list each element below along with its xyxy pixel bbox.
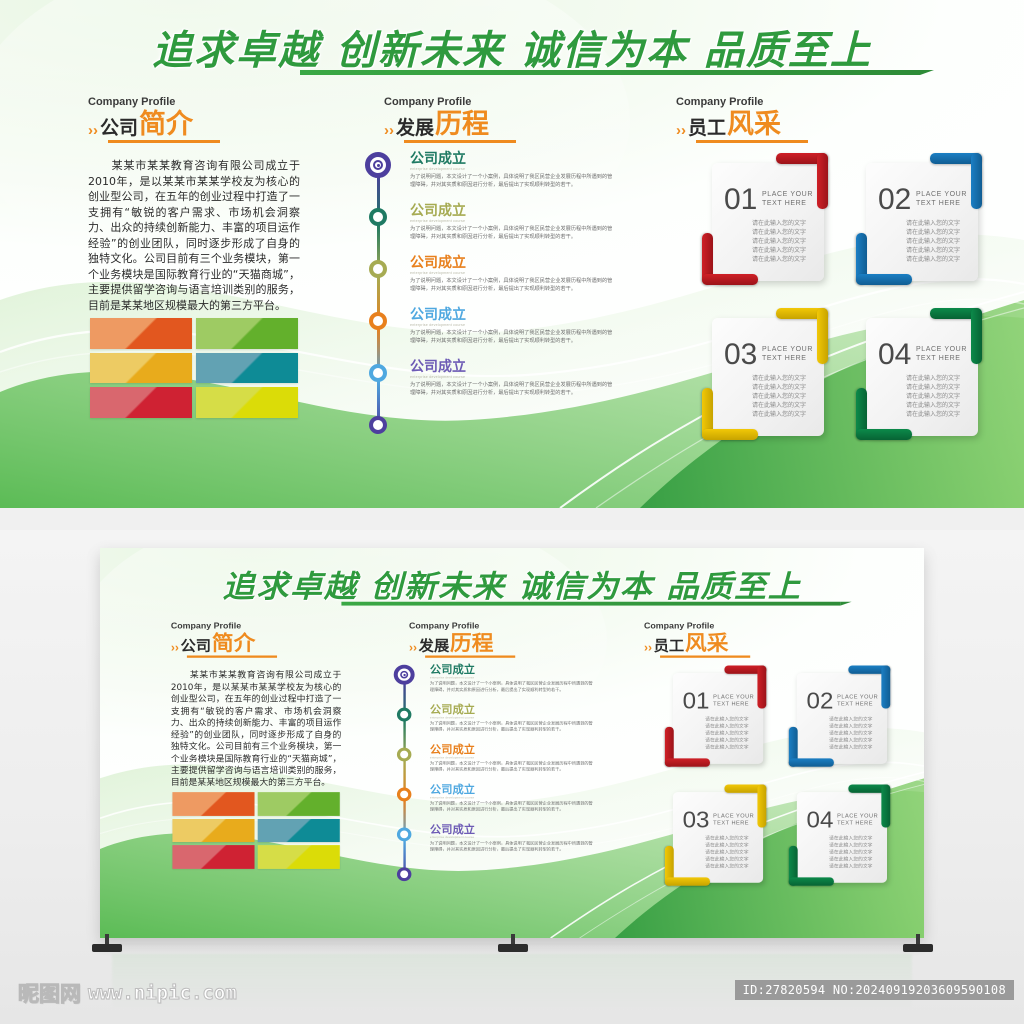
section-underline — [660, 655, 750, 657]
section-cn-dark: 发展 — [419, 639, 450, 654]
card-body-line: 请在此输入您的文字 — [752, 219, 806, 228]
timeline-node-4[interactable] — [369, 312, 387, 330]
color-swatch-teal — [258, 819, 340, 843]
color-swatch-gold — [90, 353, 192, 384]
employee-card-02[interactable]: 02PLACE YOURTEXT HERE请在此输入您的文字请在此输入您的文字请… — [797, 673, 887, 764]
card-body-line: 请在此输入您的文字 — [705, 744, 748, 751]
card-body-line: 请在此输入您的文字 — [906, 219, 960, 228]
timeline-item-body: 为了说明问题，本文设计了一个小案例，具体说明了我区民营企业发展历程中所遇到的管理… — [430, 761, 595, 773]
timeline-node-5[interactable] — [369, 364, 387, 382]
timeline-node-5[interactable] — [397, 827, 411, 841]
timeline-item-heading: 公司成立 — [410, 204, 615, 218]
card-placeholder-line1: PLACE YOUR — [916, 346, 967, 355]
section-cn-accent: 简介 — [139, 111, 193, 138]
timeline-item[interactable]: 公司成立enterprise development course为了说明问题，… — [410, 308, 615, 345]
color-swatch-orange — [172, 792, 254, 816]
color-swatch-grid — [90, 318, 298, 418]
watermark-url: www.nipic.com — [88, 982, 237, 1004]
section-eng-label: Company Profile — [384, 96, 516, 108]
card-body-lines: 请在此输入您的文字请在此输入您的文字请在此输入您的文字请在此输入您的文字请在此输… — [705, 835, 748, 870]
bracket-arm-vertical — [971, 308, 982, 364]
timeline-item-subtitle: enterprise development course — [410, 219, 615, 223]
bracket-arm-horizontal — [789, 758, 834, 766]
bracket-arm-horizontal — [702, 429, 758, 440]
color-swatch-orange — [90, 318, 192, 349]
bracket-arm-vertical — [757, 665, 766, 708]
page-title: 追求卓越 创新未来 诚信为本 品质至上 — [152, 28, 872, 74]
card-number: 04 — [878, 340, 911, 370]
card-placeholder-heading: PLACE YOURTEXT HERE — [837, 695, 878, 708]
timeline-item[interactable]: 公司成立enterprise development course为了说明问题，… — [430, 824, 595, 852]
color-swatch-grid — [172, 792, 339, 869]
section-underline — [696, 140, 808, 143]
card-body-line: 请在此输入您的文字 — [829, 856, 872, 863]
timeline-item-body: 为了说明问题，本文设计了一个小案例，具体说明了我区民营企业发展历程中所遇到的管理… — [410, 329, 615, 345]
card-body-line: 请在此输入您的文字 — [906, 237, 960, 246]
chevron-icon: ›› — [171, 642, 179, 654]
section-cn-dark: 公司 — [180, 639, 211, 654]
card-placeholder-line2: TEXT HERE — [916, 200, 967, 209]
employee-card-01[interactable]: 01PLACE YOURTEXT HERE请在此输入您的文字请在此输入您的文字请… — [673, 673, 763, 764]
timeline-node-6[interactable] — [369, 416, 387, 434]
timeline-item-subtitle: enterprise development course — [430, 836, 595, 839]
bracket-arm-horizontal — [665, 877, 710, 885]
card-placeholder-line1: PLACE YOUR — [762, 346, 813, 355]
timeline-item-subtitle: enterprise development course — [410, 167, 615, 171]
timeline-item[interactable]: 公司成立enterprise development course为了说明问题，… — [410, 256, 615, 293]
card-number: 02 — [878, 185, 911, 215]
section-eng-label: Company Profile — [171, 622, 277, 631]
timeline-node-3[interactable] — [397, 748, 411, 762]
card-placeholder-line2: TEXT HERE — [762, 355, 813, 364]
timeline-item-heading: 公司成立 — [410, 152, 615, 166]
card-placeholder-line1: PLACE YOUR — [837, 695, 878, 702]
page-title: 追求卓越 创新未来 诚信为本 品质至上 — [222, 569, 801, 604]
banner-artwork-small: 追求卓越 创新未来 诚信为本 品质至上 Company Profile ›› 公… — [100, 548, 924, 938]
banner-artwork-clone: 追求卓越 创新未来 诚信为本 品质至上 Company Profile ›› 公… — [100, 548, 924, 938]
card-body-line: 请在此输入您的文字 — [705, 730, 748, 737]
bracket-arm-vertical — [881, 784, 890, 827]
card-body-lines: 请在此输入您的文字请在此输入您的文字请在此输入您的文字请在此输入您的文字请在此输… — [752, 219, 806, 264]
card-placeholder-heading: PLACE YOURTEXT HERE — [713, 695, 754, 708]
card-body-lines: 请在此输入您的文字请在此输入您的文字请在此输入您的文字请在此输入您的文字请在此输… — [906, 374, 960, 419]
card-number: 03 — [683, 809, 710, 832]
company-profile-paragraph: 某某市某某教育咨询有限公司成立于2010年，是以某某市某某学校友为核心的创业型公… — [88, 158, 300, 313]
timeline-item-subtitle: enterprise development course — [410, 271, 615, 275]
card-body-line: 请在此输入您的文字 — [906, 255, 960, 264]
card-body-line: 请在此输入您的文字 — [906, 401, 960, 410]
timeline-node-3[interactable] — [369, 260, 387, 278]
card-placeholder-line2: TEXT HERE — [916, 355, 967, 364]
timeline-item[interactable]: 公司成立enterprise development course为了说明问题，… — [410, 152, 615, 189]
card-body-line: 请在此输入您的文字 — [705, 849, 748, 856]
watermark-brand: 昵图网 — [18, 978, 81, 1008]
timeline-node-center-dot — [403, 674, 405, 676]
section-underline — [187, 655, 277, 657]
timeline-item-heading: 公司成立 — [410, 256, 615, 270]
bracket-arm-horizontal — [665, 758, 710, 766]
chevron-icon: ›› — [409, 642, 417, 654]
card-placeholder-line1: PLACE YOUR — [762, 191, 813, 200]
card-body-line: 请在此输入您的文字 — [829, 737, 872, 744]
section-cn-dark: 员工 — [688, 119, 726, 138]
card-body-lines: 请在此输入您的文字请在此输入您的文字请在此输入您的文字请在此输入您的文字请在此输… — [829, 835, 872, 870]
card-body-line: 请在此输入您的文字 — [752, 410, 806, 419]
card-body-line: 请在此输入您的文字 — [752, 401, 806, 410]
timeline-item[interactable]: 公司成立enterprise development course为了说明问题，… — [430, 705, 595, 733]
section-header-profile: Company Profile ›› 公司 简介 — [171, 622, 277, 658]
chevron-icon: ›› — [644, 642, 652, 654]
employee-card-04[interactable]: 04PLACE YOURTEXT HERE请在此输入您的文字请在此输入您的文字请… — [797, 792, 887, 883]
section-header-staff: Company Profile ›› 员工 风采 — [644, 622, 750, 658]
section-eng-label: Company Profile — [88, 96, 220, 108]
development-timeline: 公司成立enterprise development course为了说明问题，… — [364, 158, 614, 398]
timeline-item-heading: 公司成立 — [430, 665, 595, 676]
section-underline — [108, 140, 220, 143]
card-body-line: 请在此输入您的文字 — [752, 237, 806, 246]
card-body-line: 请在此输入您的文字 — [705, 723, 748, 730]
employee-card-01[interactable]: 01PLACE YOURTEXT HERE请在此输入您的文字请在此输入您的文字请… — [712, 163, 824, 281]
card-placeholder-line2: TEXT HERE — [837, 820, 878, 827]
card-placeholder-heading: PLACE YOURTEXT HERE — [713, 814, 754, 827]
section-eng-label: Company Profile — [644, 622, 750, 631]
card-body-line: 请在此输入您的文字 — [705, 842, 748, 849]
card-placeholder-line2: TEXT HERE — [837, 701, 878, 708]
card-body-lines: 请在此输入您的文字请在此输入您的文字请在此输入您的文字请在此输入您的文字请在此输… — [752, 374, 806, 419]
timeline-node-2[interactable] — [397, 708, 411, 722]
card-body-line: 请在此输入您的文字 — [705, 716, 748, 723]
timeline-item[interactable]: 公司成立enterprise development course为了说明问题，… — [410, 360, 615, 397]
section-cn-accent: 风采 — [727, 111, 781, 138]
section-cn-accent: 风采 — [685, 633, 728, 654]
stand-foot-left — [92, 944, 122, 952]
card-number: 01 — [724, 185, 757, 215]
card-body-lines: 请在此输入您的文字请在此输入您的文字请在此输入您的文字请在此输入您的文字请在此输… — [906, 219, 960, 264]
card-body-line: 请在此输入您的文字 — [752, 228, 806, 237]
section-cn-accent: 历程 — [435, 111, 489, 138]
timeline-node-4[interactable] — [397, 788, 411, 802]
bracket-arm-vertical — [971, 153, 982, 209]
employee-card-03[interactable]: 03PLACE YOURTEXT HERE请在此输入您的文字请在此输入您的文字请… — [673, 792, 763, 883]
color-swatch-green — [196, 318, 298, 349]
section-cn-accent: 简介 — [212, 633, 255, 654]
card-body-line: 请在此输入您的文字 — [829, 723, 872, 730]
development-timeline: 公司成立enterprise development course为了说明问题，… — [393, 669, 594, 853]
card-body-line: 请在此输入您的文字 — [829, 744, 872, 751]
section-eng-label: Company Profile — [409, 622, 515, 631]
color-swatch-gold — [172, 819, 254, 843]
card-body-line: 请在此输入您的文字 — [906, 228, 960, 237]
card-body-line: 请在此输入您的文字 — [829, 716, 872, 723]
timeline-node-1[interactable] — [365, 152, 391, 178]
timeline-item-body: 为了说明问题，本文设计了一个小案例，具体说明了我区民营企业发展历程中所遇到的管理… — [410, 225, 615, 241]
timeline-item[interactable]: 公司成立enterprise development course为了说明问题，… — [430, 784, 595, 812]
timeline-item-body: 为了说明问题，本文设计了一个小案例，具体说明了我区民营企业发展历程中所遇到的管理… — [410, 277, 615, 293]
card-placeholder-heading: PLACE YOURTEXT HERE — [837, 814, 878, 827]
card-placeholder-line1: PLACE YOUR — [916, 191, 967, 200]
employee-card-04[interactable]: 04PLACE YOURTEXT HERE请在此输入您的文字请在此输入您的文字请… — [866, 318, 978, 436]
card-placeholder-line2: TEXT HERE — [713, 701, 754, 708]
timeline-item[interactable]: 公司成立enterprise development course为了说明问题，… — [430, 665, 595, 693]
poster-stage: 追求卓越 创新未来 诚信为本 品质至上 Company Profile ›› 公… — [0, 0, 1024, 1024]
timeline-item[interactable]: 公司成立enterprise development course为了说明问题，… — [410, 204, 615, 241]
card-body-line: 请在此输入您的文字 — [906, 374, 960, 383]
card-number: 02 — [807, 690, 834, 713]
timeline-item-heading: 公司成立 — [430, 705, 595, 716]
timeline-item-heading: 公司成立 — [430, 824, 595, 835]
color-swatch-yellow — [258, 845, 340, 869]
timeline-item-body: 为了说明问题，本文设计了一个小案例，具体说明了我区民营企业发展历程中所遇到的管理… — [430, 721, 595, 733]
chevron-icon: ›› — [88, 123, 98, 138]
stand-foot-right — [903, 944, 933, 952]
card-placeholder-line1: PLACE YOUR — [837, 814, 878, 821]
timeline-item-body: 为了说明问题，本文设计了一个小案例，具体说明了我区民营企业发展历程中所遇到的管理… — [410, 381, 615, 397]
timeline-item-heading: 公司成立 — [430, 745, 595, 756]
card-placeholder-line1: PLACE YOUR — [713, 695, 754, 702]
watermark: 昵图网 www.nipic.com — [18, 978, 237, 1008]
timeline-item-heading: 公司成立 — [410, 360, 615, 374]
mockup-scene: 追求卓越 创新未来 诚信为本 品质至上 Company Profile ›› 公… — [0, 530, 1024, 1024]
card-placeholder-heading: PLACE YOURTEXT HERE — [762, 191, 813, 209]
card-number: 01 — [683, 690, 710, 713]
section-underline — [425, 655, 515, 657]
section-header-history: Company Profile ›› 发展 历程 — [409, 622, 515, 658]
timeline-item-subtitle: enterprise development course — [410, 323, 615, 327]
title-underline — [300, 70, 920, 75]
timeline-item[interactable]: 公司成立enterprise development course为了说明问题，… — [430, 745, 595, 773]
timeline-item-subtitle: enterprise development course — [430, 796, 595, 799]
employee-card-02[interactable]: 02PLACE YOURTEXT HERE请在此输入您的文字请在此输入您的文字请… — [866, 163, 978, 281]
asset-id-badge: ID:27820594 NO:20240919203609590108 — [735, 980, 1014, 1000]
section-header-history: Company Profile ›› 发展 历程 — [384, 96, 516, 143]
title-underline — [341, 602, 840, 606]
bracket-arm-vertical — [817, 153, 828, 209]
card-number: 03 — [724, 340, 757, 370]
card-body-line: 请在此输入您的文字 — [705, 835, 748, 842]
card-body-line: 请在此输入您的文字 — [906, 383, 960, 392]
section-eng-label: Company Profile — [676, 96, 808, 108]
timeline-item-heading: 公司成立 — [430, 784, 595, 795]
card-body-line: 请在此输入您的文字 — [829, 730, 872, 737]
section-header-staff: Company Profile ›› 员工 风采 — [676, 96, 808, 143]
card-body-line: 请在此输入您的文字 — [829, 835, 872, 842]
card-body-line: 请在此输入您的文字 — [752, 383, 806, 392]
section-cn-dark: 公司 — [100, 119, 138, 138]
stand-foot-center — [498, 944, 528, 952]
card-placeholder-line2: TEXT HERE — [713, 820, 754, 827]
timeline-item-subtitle: enterprise development course — [430, 676, 595, 679]
card-body-line: 请在此输入您的文字 — [906, 410, 960, 419]
section-header-profile: Company Profile ›› 公司 简介 — [88, 96, 220, 143]
bracket-arm-horizontal — [856, 429, 912, 440]
card-body-line: 请在此输入您的文字 — [705, 737, 748, 744]
employee-card-03[interactable]: 03PLACE YOURTEXT HERE请在此输入您的文字请在此输入您的文字请… — [712, 318, 824, 436]
bracket-arm-horizontal — [702, 274, 758, 285]
card-placeholder-heading: PLACE YOURTEXT HERE — [762, 346, 813, 364]
card-body-lines: 请在此输入您的文字请在此输入您的文字请在此输入您的文字请在此输入您的文字请在此输… — [705, 716, 748, 751]
bracket-arm-vertical — [757, 784, 766, 827]
chevron-icon: ›› — [384, 123, 394, 138]
section-cn-accent: 历程 — [450, 633, 493, 654]
card-placeholder-heading: PLACE YOURTEXT HERE — [916, 191, 967, 209]
card-placeholder-heading: PLACE YOURTEXT HERE — [916, 346, 967, 364]
timeline-item-body: 为了说明问题，本文设计了一个小案例，具体说明了我区民营企业发展历程中所遇到的管理… — [430, 801, 595, 813]
bracket-arm-vertical — [817, 308, 828, 364]
card-body-line: 请在此输入您的文字 — [906, 392, 960, 401]
company-profile-paragraph: 某某市某某教育咨询有限公司成立于2010年，是以某某市某某学校友为核心的创业型公… — [171, 669, 342, 788]
color-swatch-green — [258, 792, 340, 816]
card-body-line: 请在此输入您的文字 — [752, 392, 806, 401]
card-body-line: 请在此输入您的文字 — [752, 246, 806, 255]
section-underline — [404, 140, 516, 143]
timeline-item-subtitle: enterprise development course — [430, 756, 595, 759]
section-cn-dark: 员工 — [654, 639, 685, 654]
color-swatch-teal — [196, 353, 298, 384]
card-body-lines: 请在此输入您的文字请在此输入您的文字请在此输入您的文字请在此输入您的文字请在此输… — [829, 716, 872, 751]
card-body-line: 请在此输入您的文字 — [829, 842, 872, 849]
card-body-line: 请在此输入您的文字 — [705, 863, 748, 870]
card-body-line: 请在此输入您的文字 — [705, 856, 748, 863]
card-number: 04 — [807, 809, 834, 832]
card-body-line: 请在此输入您的文字 — [829, 849, 872, 856]
card-body-line: 请在此输入您的文字 — [752, 374, 806, 383]
timeline-item-body: 为了说明问题，本文设计了一个小案例，具体说明了我区民营企业发展历程中所遇到的管理… — [430, 840, 595, 852]
banner-artwork-large: 追求卓越 创新未来 诚信为本 品质至上 Company Profile ›› 公… — [0, 0, 1024, 508]
gap-strip — [0, 508, 1024, 530]
banner-mockup-frame: 追求卓越 创新未来 诚信为本 品质至上 Company Profile ›› 公… — [100, 548, 924, 938]
chevron-icon: ›› — [676, 123, 686, 138]
timeline-node-1[interactable] — [394, 665, 415, 685]
card-placeholder-line2: TEXT HERE — [762, 200, 813, 209]
timeline-item-body: 为了说明问题，本文设计了一个小案例，具体说明了我区民营企业发展历程中所遇到的管理… — [410, 173, 615, 189]
timeline-node-6[interactable] — [397, 867, 411, 881]
timeline-item-body: 为了说明问题，本文设计了一个小案例，具体说明了我区民营企业发展历程中所遇到的管理… — [430, 681, 595, 693]
bracket-arm-horizontal — [856, 274, 912, 285]
bracket-arm-vertical — [881, 665, 890, 708]
color-swatch-crimson — [172, 845, 254, 869]
timeline-node-center-dot — [377, 164, 380, 167]
card-body-line: 请在此输入您的文字 — [906, 246, 960, 255]
section-cn-dark: 发展 — [396, 119, 434, 138]
card-placeholder-line1: PLACE YOUR — [713, 814, 754, 821]
color-swatch-yellow — [196, 387, 298, 418]
timeline-item-subtitle: enterprise development course — [430, 716, 595, 719]
card-body-line: 请在此输入您的文字 — [752, 255, 806, 264]
timeline-item-heading: 公司成立 — [410, 308, 615, 322]
bracket-arm-horizontal — [789, 877, 834, 885]
timeline-item-subtitle: enterprise development course — [410, 375, 615, 379]
timeline-node-2[interactable] — [369, 208, 387, 226]
color-swatch-crimson — [90, 387, 192, 418]
card-body-line: 请在此输入您的文字 — [829, 863, 872, 870]
